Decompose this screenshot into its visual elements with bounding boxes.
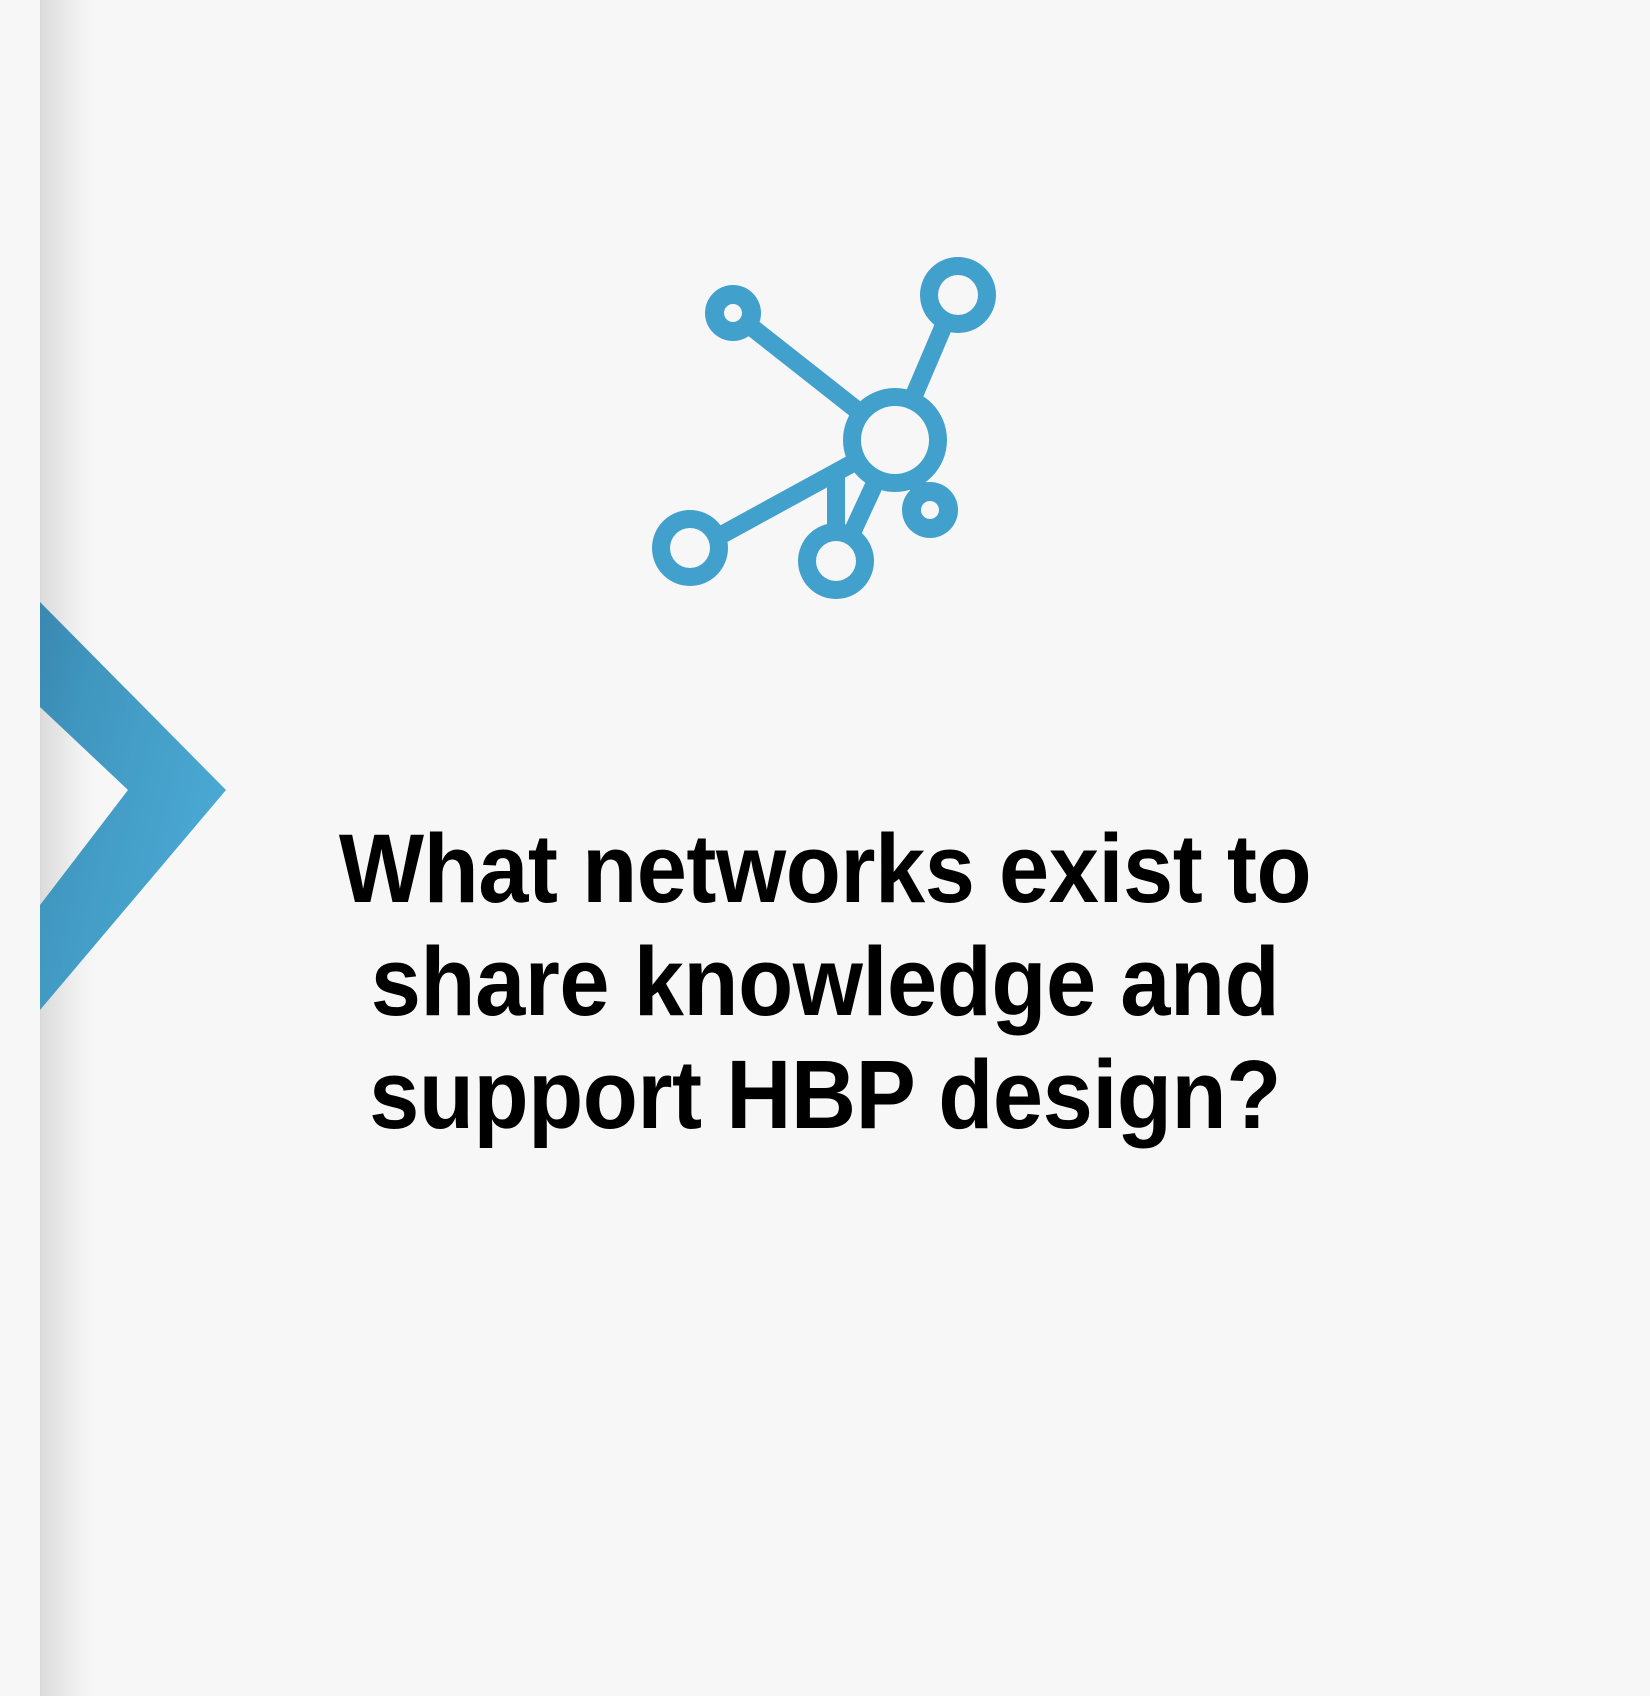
network-node-top-right-hole (938, 275, 978, 315)
chevron-right-icon (0, 585, 250, 1025)
network-node-bottom-hole (816, 541, 856, 581)
slide-canvas: What networks exist to share knowledge a… (0, 0, 1650, 1696)
network-node-top-left-hole (724, 304, 742, 322)
network-nodes-icon (620, 235, 1020, 625)
network-node-bottom-right-hole (921, 501, 939, 519)
network-node-hub-hole (861, 406, 929, 474)
chevron-right-accent (0, 585, 250, 1025)
network-graph-icon (620, 235, 1020, 625)
network-node-bottom-left-hole (670, 528, 710, 568)
slide-headline: What networks exist to share knowledge a… (309, 812, 1341, 1151)
